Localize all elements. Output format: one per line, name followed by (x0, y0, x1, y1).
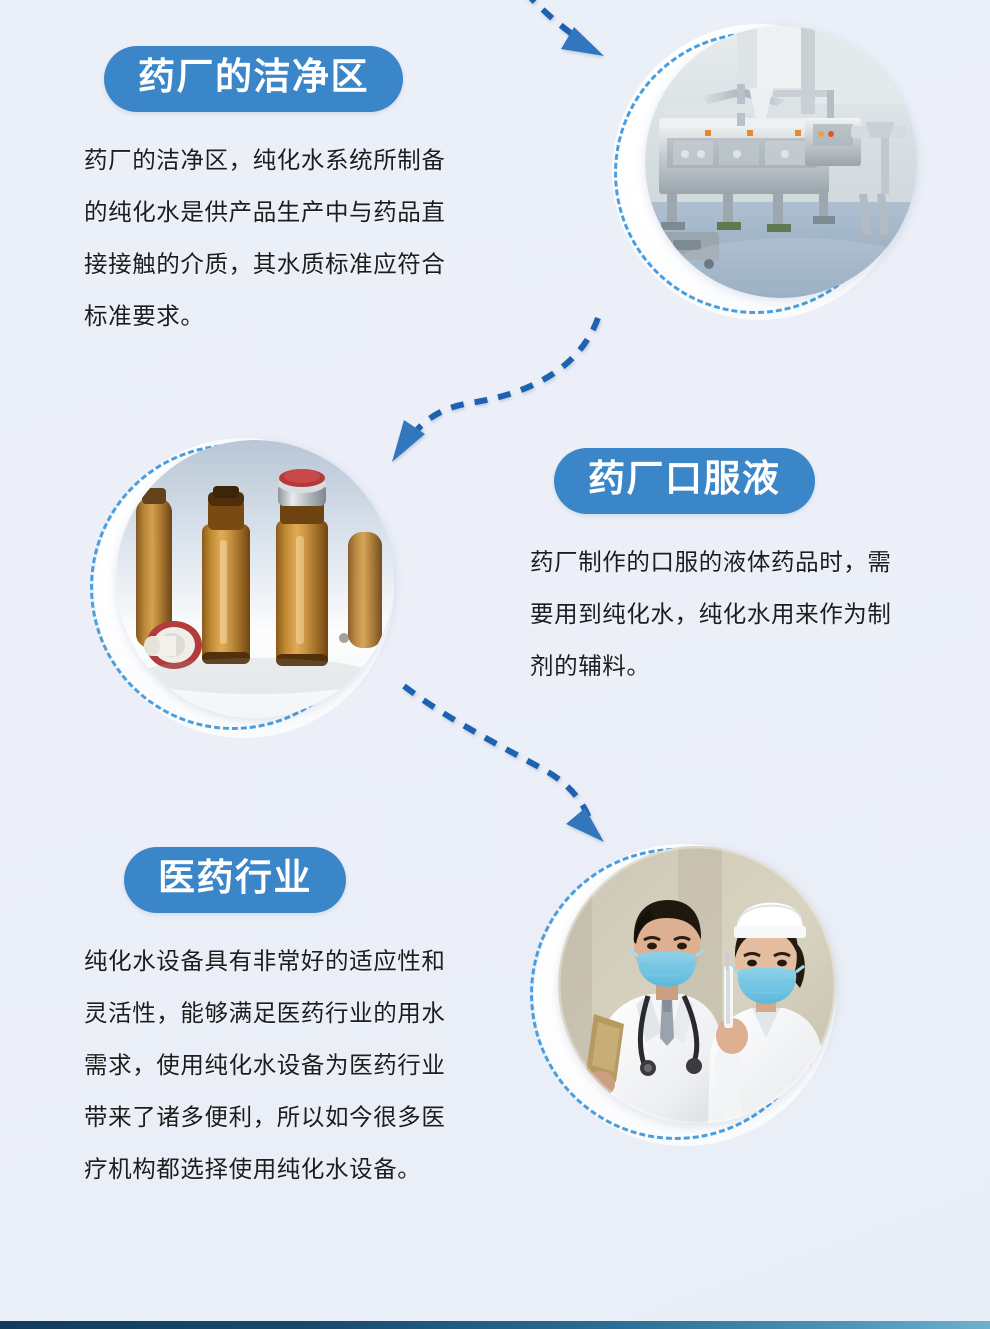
section-body-clean-area: 药厂的洁净区，纯化水系统所制备 的纯化水是供产品生产中与药品直 接接触的介质，其… (84, 134, 504, 342)
photo-clean-area-image (645, 26, 917, 298)
photo-pharma-industry (528, 838, 858, 1158)
body-line: 灵活性，能够满足医药行业的用水 (84, 987, 504, 1039)
photo-oral-liquid-image (116, 440, 394, 718)
section-body-pharma-industry: 纯化水设备具有非常好的适应性和 灵活性，能够满足医药行业的用水 需求，使用纯化水… (84, 935, 504, 1195)
body-line: 带来了诸多便利，所以如今很多医 (84, 1091, 504, 1143)
section-body-oral-liquid: 药厂制作的口服的液体药品时，需 要用到纯化水，纯化水用来作为制 剂的辅料。 (530, 536, 950, 692)
body-line: 纯化水设备具有非常好的适应性和 (84, 935, 504, 987)
photo-clean-area (612, 18, 932, 328)
section-title-pharma-industry: 医药行业 (124, 847, 346, 913)
infographic-page: 药厂的洁净区 药厂的洁净区，纯化水系统所制备 的纯化水是供产品生产中与药品直 接… (0, 0, 990, 1329)
photo-pharma-industry-image (558, 846, 836, 1124)
bottom-accent-bar (0, 1321, 990, 1329)
section-title-oral-liquid: 药厂口服液 (554, 448, 815, 514)
body-line: 药厂制作的口服的液体药品时，需 (530, 536, 950, 588)
body-line: 标准要求。 (84, 290, 504, 342)
body-line: 药厂的洁净区，纯化水系统所制备 (84, 134, 504, 186)
section-clean-area: 药厂的洁净区 药厂的洁净区，纯化水系统所制备 的纯化水是供产品生产中与药品直 接… (84, 46, 504, 342)
body-line: 要用到纯化水，纯化水用来作为制 (530, 588, 950, 640)
body-line: 的纯化水是供产品生产中与药品直 (84, 186, 504, 238)
body-line: 需求，使用纯化水设备为医药行业 (84, 1039, 504, 1091)
body-line: 剂的辅料。 (530, 640, 950, 692)
photo-oral-liquid (88, 430, 418, 750)
section-oral-liquid: 药厂口服液 药厂制作的口服的液体药品时，需 要用到纯化水，纯化水用来作为制 剂的… (530, 448, 950, 692)
section-pharma-industry: 医药行业 纯化水设备具有非常好的适应性和 灵活性，能够满足医药行业的用水 需求，… (84, 847, 504, 1195)
body-line: 接接触的介质，其水质标准应符合 (84, 238, 504, 290)
section-title-clean-area: 药厂的洁净区 (104, 46, 403, 112)
body-line: 疗机构都选择使用纯化水设备。 (84, 1143, 504, 1195)
arrow-into-clean-area-icon (497, 0, 604, 56)
arrow-oral-to-industry-icon (404, 686, 604, 842)
